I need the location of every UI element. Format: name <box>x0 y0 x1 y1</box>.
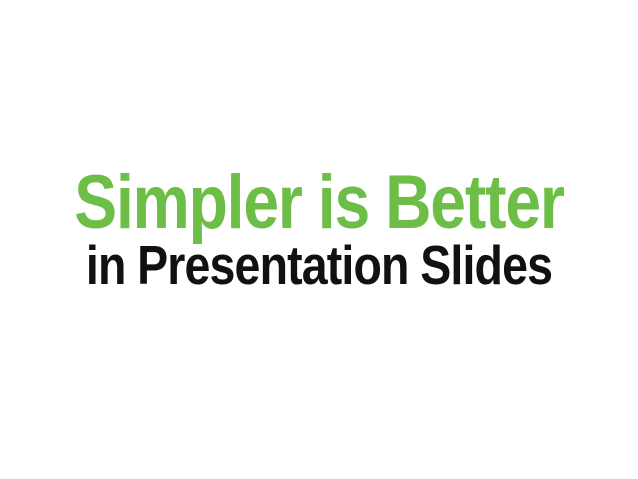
title-block: Simpler is Better in Presentation Slides <box>0 168 638 291</box>
slide-canvas: Simpler is Better in Presentation Slides <box>0 0 638 479</box>
slide-headline: Simpler is Better <box>49 168 588 238</box>
slide-subheadline: in Presentation Slides <box>49 239 588 291</box>
